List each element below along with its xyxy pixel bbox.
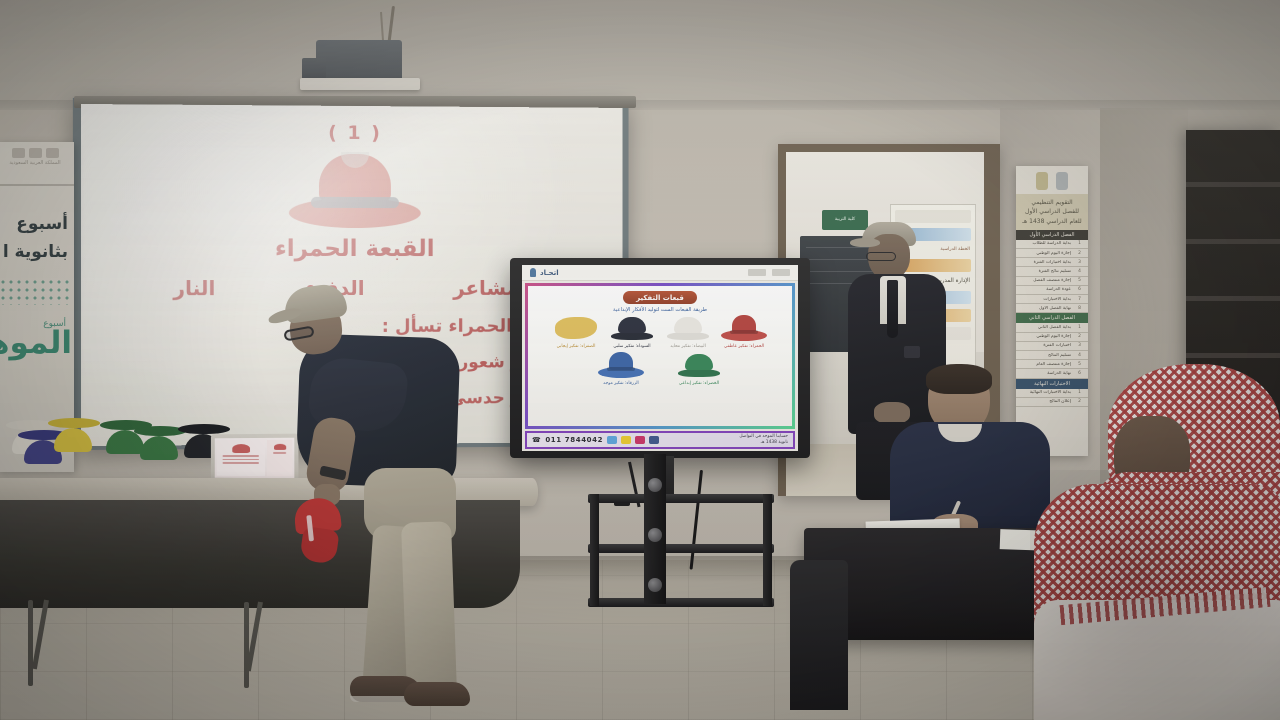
row-num: 2 <box>1073 251 1086 256</box>
red-baseball-cap-held <box>291 495 354 566</box>
attendee-keffiyeh-front <box>1034 484 1280 720</box>
row-num: 4 <box>1073 353 1086 358</box>
ministry-logo <box>46 148 59 158</box>
right-banner-crests <box>1016 166 1088 194</box>
eyeglasses-icon <box>866 252 896 261</box>
necktie <box>887 280 898 338</box>
row-num: 1 <box>1073 325 1086 330</box>
row-text: بداية الاختبارات <box>1018 297 1071 302</box>
row-text: بداية الفصل الثاني <box>1018 325 1071 330</box>
row-text: إجازة منتصف العام <box>1018 362 1071 367</box>
ceiling <box>0 0 1280 108</box>
right-banner-title-3: للعام الدراسي 1438 هـ <box>1019 217 1085 226</box>
gold-crest-icon <box>1036 172 1048 190</box>
row-text: بداية اختبارات الفترة <box>1018 260 1071 265</box>
table-row: 7بداية الاختبارات <box>1016 295 1088 304</box>
row-text: اختبارات الفترة <box>1018 343 1071 348</box>
seated-man-hair <box>926 364 992 394</box>
hats-row-bottom: الزرقاء: تفكير موجه الخضراء: تفكير إبداع… <box>528 349 792 386</box>
left-banner-green-big: الموهبة <box>0 325 74 361</box>
green-hat-icon <box>676 352 722 380</box>
chair-backrest <box>790 560 848 710</box>
table-row: 2إجازة اليوم الوطني <box>1016 249 1088 258</box>
person-icon <box>530 268 536 277</box>
row-num: 6 <box>1073 371 1086 376</box>
row-num: 3 <box>1073 260 1086 265</box>
hat-item-white: البيضاء: تفكير محايد <box>662 315 714 349</box>
right-banner-title-1: التقويم التنظيمي <box>1019 198 1085 207</box>
schedule-section-2-header: الفصل الدراسي الثاني <box>1016 313 1088 323</box>
green-hat-label: الخضراء: تفكير إبداعي <box>673 381 725 386</box>
tv-stand <box>588 494 774 608</box>
row-text: تسليم النتائج <box>1018 353 1071 358</box>
education-logo <box>29 148 42 158</box>
black-hat-icon <box>609 315 655 343</box>
tv-slide-subtitle: طريقة القبعات الست لتوليد الأفكار الإبدا… <box>528 306 792 315</box>
blue-hat-label: الزرقاء: تفكير موجه <box>595 381 647 386</box>
presenter-right-shoe <box>404 682 470 706</box>
row-num: 2 <box>1073 334 1086 339</box>
row-num: 4 <box>1073 269 1086 274</box>
red-fedora-hat-icon <box>289 154 421 232</box>
ceiling-projector <box>316 40 402 82</box>
row-text: عودة الدراسة <box>1018 287 1071 292</box>
tv-slide-footer: ☎ 011 7844042 حسابنا الموحد في التواصل ث… <box>525 431 795 449</box>
row-text: بداية الدراسة للطلاب <box>1018 241 1071 246</box>
table-row: 1بداية الفصل الثاني <box>1016 323 1088 332</box>
laptop-red-hat-icon <box>232 444 250 453</box>
hats-row-top: الصفراء: تفكير إيجابي السوداء: تفكير سلب… <box>528 315 792 349</box>
classroom-scene: كلية التربية الخطة الدراسية الإدارة المد… <box>0 0 1280 720</box>
table-row: 3بداية اختبارات الفترة <box>1016 258 1088 267</box>
tv-screen[interactable]: اتحـاد قبعات التفكير طريقة القبعات الست … <box>522 265 798 451</box>
row-num: 5 <box>1073 362 1086 367</box>
contact-phone-number: 011 7844042 <box>545 436 603 444</box>
red-hat-icon <box>721 315 767 343</box>
phone-icon: ☎ <box>532 436 541 444</box>
row-num: 3 <box>1073 343 1086 348</box>
presenter-bending <box>276 286 482 720</box>
account-line-2: ثانوية 1438 هـ <box>739 440 788 446</box>
row-text: إجازة اليوم الوطني <box>1018 334 1071 339</box>
row-num: 1 <box>1073 241 1086 246</box>
table-leg-3 <box>244 602 249 688</box>
row-text: إجازة منتصف الفصل <box>1018 278 1071 283</box>
row-num: 7 <box>1073 297 1086 302</box>
presenter-right-leg <box>401 521 457 695</box>
breast-pocket <box>904 346 920 358</box>
hat-item-red: الحمراء: تفكير عاطفي <box>718 315 770 349</box>
right-banner-title: التقويم التنظيمي للفصل الدراسي الأول للع… <box>1016 194 1088 230</box>
table-row: 5إجازة منتصف الفصل <box>1016 277 1088 286</box>
left-banner-logos <box>0 142 74 160</box>
instagram-icon[interactable] <box>635 436 645 444</box>
table-leg-1 <box>28 600 33 686</box>
row-text: نهاية الفصل الأول <box>1018 306 1071 311</box>
left-banner-heading-1: أسبوع <box>0 186 74 238</box>
projector-mount-plate <box>300 78 420 90</box>
partner-logo-1 <box>748 269 766 276</box>
hat-item-black: السوداء: تفكير سلبي <box>606 315 658 349</box>
slide-number: ( 1 ) <box>104 120 602 145</box>
schedule-table-1: 1بداية الدراسة للطلاب 2إجازة اليوم الوطن… <box>1016 240 1088 314</box>
right-banner-title-2: للفصل الدراسي الأول <box>1019 207 1085 216</box>
facebook-icon[interactable] <box>649 436 659 444</box>
row-num: 8 <box>1073 306 1086 311</box>
row-text: إجازة اليوم الوطني <box>1018 251 1071 256</box>
schedule-section-1-header: الفصل الدراسي الأول <box>1016 230 1088 240</box>
table-row: 3اختبارات الفترة <box>1016 342 1088 351</box>
table-row: 4تسليم النتائج <box>1016 351 1088 360</box>
snapchat-icon[interactable] <box>621 436 631 444</box>
left-banner-caption: المملكة العربية السعودية <box>0 160 74 166</box>
table-row: 2إجازة اليوم الوطني <box>1016 333 1088 342</box>
row-num: 5 <box>1073 278 1086 283</box>
partner-logo-2 <box>772 269 790 276</box>
tv-slide-badge: قبعات التفكير <box>623 291 697 304</box>
table-row: 8نهاية الفصل الأول <box>1016 304 1088 313</box>
tv-brand-label: اتحـاد <box>540 269 559 277</box>
row-num: 1 <box>1073 390 1086 395</box>
left-banner-heading-2: بثانوية ا <box>0 238 74 266</box>
yellow-hat-icon <box>553 315 599 343</box>
hat-item-yellow: الصفراء: تفكير إيجابي <box>550 315 602 349</box>
blue-hat-icon <box>598 352 644 380</box>
red-hat-label: الحمراء: تفكير عاطفي <box>718 344 770 349</box>
tv-slide-header: اتحـاد <box>522 265 798 281</box>
row-text: تسليم نتائج الفترة <box>1018 269 1071 274</box>
hat-item-blue: الزرقاء: تفكير موجه <box>595 352 647 386</box>
row-num: 2 <box>1073 399 1086 404</box>
table-row: 6عودة الدراسة <box>1016 286 1088 295</box>
hat-item-green: الخضراء: تفكير إبداعي <box>673 352 725 386</box>
national-crest-icon <box>1056 172 1068 190</box>
white-hat-icon <box>665 315 711 343</box>
tv-slide-body: قبعات التفكير طريقة القبعات الست لتوليد … <box>525 283 795 429</box>
table-row: 1بداية الدراسة للطلاب <box>1016 240 1088 249</box>
slide-keyword-3: النار <box>173 276 215 300</box>
twitter-icon[interactable] <box>607 436 617 444</box>
laptop-slide-main <box>217 440 266 476</box>
black-hat-label: السوداء: تفكير سلبي <box>606 344 658 349</box>
yellow-hat-label: الصفراء: تفكير إيجابي <box>550 344 602 349</box>
school-logo <box>12 148 25 158</box>
row-num: 6 <box>1073 287 1086 292</box>
table-row: 4تسليم نتائج الفترة <box>1016 267 1088 276</box>
white-hat-label: البيضاء: تفكير محايد <box>662 344 714 349</box>
left-banner-dot-pattern <box>0 279 70 305</box>
